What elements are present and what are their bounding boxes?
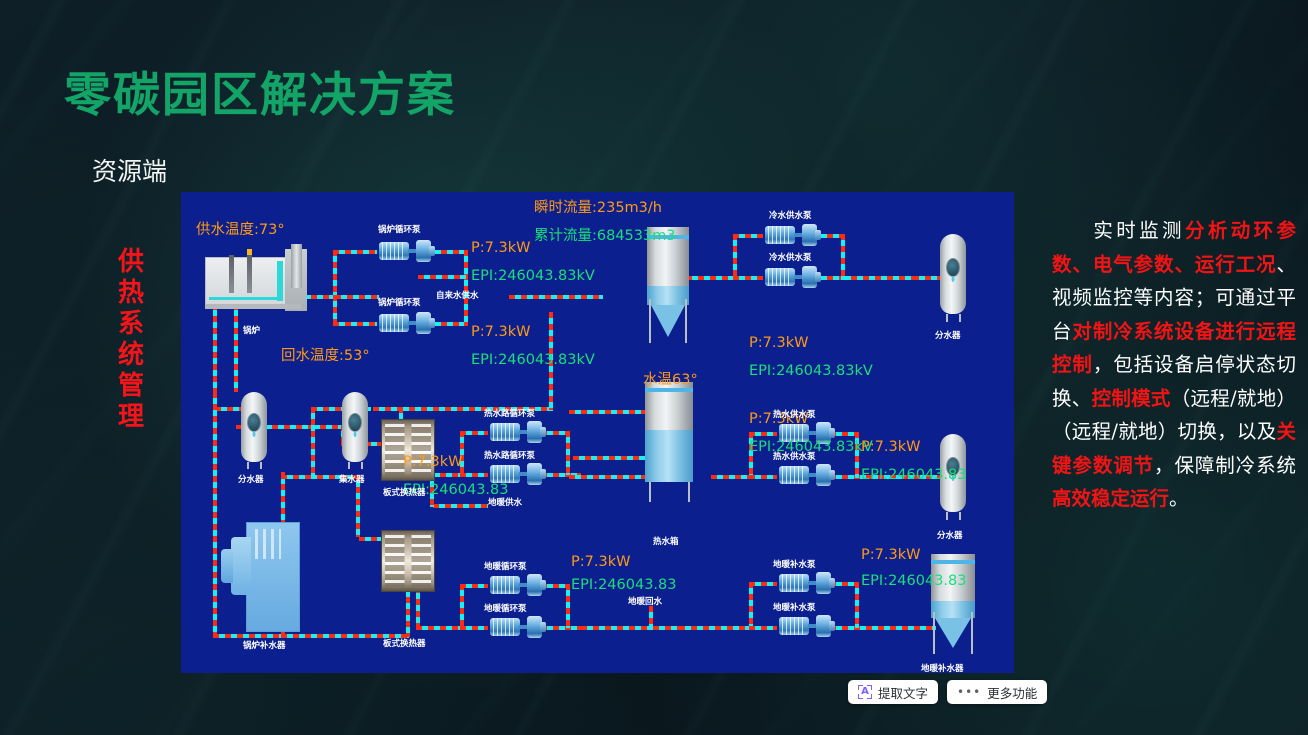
makeup-tank-cap-2: [221, 549, 233, 583]
pump-floor-makeup-2[interactable]: [777, 615, 835, 637]
pump12-nose: [829, 621, 835, 631]
pump5-fins: [493, 423, 517, 441]
vlabel-char-5: 管: [113, 371, 149, 402]
label-return-temp: 回水温度:53°: [281, 344, 370, 365]
more-dots-icon: •••: [957, 685, 981, 699]
pump1-fins: [382, 242, 406, 260]
pipe-boiler-drop-a: [213, 304, 217, 392]
extract-text-label: 提取文字: [878, 683, 928, 702]
label-total-flow: 累计流量:684533m3: [534, 224, 676, 245]
pump10-nose: [829, 470, 835, 480]
pump5-nose: [540, 427, 546, 437]
label-floor-makeup-pump-2: 地暖补水泵: [773, 601, 816, 613]
power-label-1: P:7.3kW: [471, 240, 530, 256]
pump4-fins: [768, 268, 792, 286]
label-floor-makeup-tank: 地暖补水器: [921, 662, 964, 673]
desc-seg-1: 实时监测: [1090, 219, 1185, 242]
pump3-fins: [768, 226, 792, 244]
separator-right-leg-1: [946, 512, 948, 520]
pump10-fins: [782, 466, 806, 484]
pipe-hotloop-top: [460, 431, 488, 435]
image-toolbar: A 提取文字 ••• 更多功能: [848, 680, 1047, 704]
page-subtitle: 资源端: [92, 152, 167, 188]
label-supply-temp: 供水温度:73°: [196, 218, 285, 239]
power-label-3: P:7.3kW: [749, 335, 808, 351]
pipe-floor-supply: [433, 504, 488, 508]
epi-label-3: EPI:246043.83kV: [749, 363, 873, 379]
pipe-hotsupply-bottom: [749, 475, 777, 479]
label-water-temp: 水温63°: [643, 368, 698, 389]
section-vertical-label: 供 热 系 统 管 理: [113, 247, 149, 433]
pump-hot-supply-2[interactable]: [777, 464, 835, 486]
label-boiler-pump-1: 锅炉循环泵: [378, 223, 421, 235]
separator-left-leg-1: [247, 462, 249, 469]
extract-text-icon: A: [858, 685, 872, 699]
separator-top-vessel[interactable]: [940, 234, 966, 314]
extract-text-button[interactable]: A 提取文字: [848, 680, 938, 704]
pipe-bottom-left: [213, 634, 283, 638]
pump12-fins: [782, 617, 806, 635]
separator-left-leg-2: [260, 462, 262, 469]
pump1-nose: [429, 246, 435, 256]
pipe-hotwater-bottom: [569, 475, 649, 479]
collector-leg-2: [361, 462, 363, 469]
collector-leg-1: [348, 462, 350, 469]
separator-top-gauge: [946, 258, 960, 277]
label-hot-supply-pump-1: 热水供水泵: [773, 408, 816, 420]
vlabel-char-6: 理: [113, 402, 149, 433]
label-tap-water-supply: 自来水供水: [436, 289, 479, 301]
pipe-floormakeup-collect: [855, 582, 859, 628]
separator-left-drip: [253, 431, 256, 437]
pump2-fins: [382, 314, 406, 332]
pump-floor-circ-1[interactable]: [488, 574, 546, 596]
label-cold-pump-2: 冷水供水泵: [769, 251, 812, 263]
pump9-nose: [829, 428, 835, 438]
cold-tank-leg-2: [685, 299, 687, 343]
boiler-probe-tip: [247, 249, 252, 255]
label-floor-pump-1: 地暖循环泵: [484, 560, 527, 572]
label-instant-flow: 瞬时流量:235m3/h: [534, 196, 662, 217]
label-cold-pump-1: 冷水供水泵: [769, 209, 812, 221]
boiler-sight-glass: [277, 261, 283, 301]
more-features-label: 更多功能: [987, 683, 1037, 702]
pipe-coldloop-top: [733, 234, 763, 238]
description-paragraph: 实时监测分析动环参数、电气参数、运行工况、视频监控等内容；可通过平台对制冷系统设…: [1052, 214, 1296, 516]
separator-right-leg-2: [959, 512, 961, 520]
pump3-nose: [815, 230, 821, 240]
makeup-tank-cap: [231, 537, 251, 595]
pipe-tapwater-in: [509, 295, 603, 299]
pipe-boilerloop-top: [333, 250, 377, 254]
label-boiler-pump-2: 锅炉循环泵: [378, 296, 421, 308]
pump-hotline-circ-1[interactable]: [488, 421, 546, 443]
power-label-4: P:7.3kW: [403, 454, 462, 470]
epi-label-7: EPI:246043.83: [571, 577, 676, 593]
desc-seg-6: 控制模式: [1092, 387, 1171, 410]
boiler-unit[interactable]: [205, 247, 315, 305]
pump8-fins: [493, 618, 517, 636]
label-floor-makeup-pump-1: 地暖补水泵: [773, 558, 816, 570]
phe2-plates: [385, 535, 431, 588]
pipe-boilerpump-collect: [464, 250, 468, 326]
power-label-2: P:7.3kW: [471, 324, 530, 340]
power-label-7: P:7.3kW: [571, 554, 630, 570]
label-floor-pump-2: 地暖循环泵: [484, 602, 527, 614]
vlabel-char-1: 供: [113, 247, 149, 278]
pipe-boiler-header: [418, 275, 466, 279]
label-hot-supply-pump-2: 热水供水泵: [773, 450, 816, 462]
pump-boiler-circ-2[interactable]: [377, 312, 435, 334]
floor-makeup-ring: [931, 560, 975, 564]
pipe-boilerloop-down: [333, 295, 337, 325]
scada-diagram-panel[interactable]: 供水温度:73° 回水温度:53° 瞬时流量:235m3/h 累计流量:6845…: [181, 192, 1014, 673]
desc-seg-10: 高效稳定运行: [1052, 487, 1169, 510]
floor-makeup-leg-2: [971, 612, 973, 654]
vlabel-char-3: 系: [113, 309, 149, 340]
power-label-8: P:7.3kW: [861, 547, 920, 563]
label-hot-water-tank: 热水箱: [653, 535, 679, 547]
pump-cold-supply-1[interactable]: [763, 224, 821, 246]
separator-top-leg-2: [959, 314, 961, 322]
collector-drip: [354, 431, 357, 437]
pipe-floorloop-collect: [566, 584, 570, 628]
pipe-floor-return-run: [581, 626, 679, 630]
pipe-floorloop-bottom: [460, 626, 488, 630]
desc-seg-11: 。: [1169, 487, 1189, 510]
slide-canvas: 零碳园区解决方案 资源端 供 热 系 统 管 理 实时监测分析动环参数、电气参数…: [0, 0, 1308, 735]
boiler-base-line: [209, 297, 283, 300]
pump-cold-supply-2[interactable]: [763, 266, 821, 288]
floor-makeup-tank[interactable]: [931, 554, 975, 662]
pipe-to-hotwater-tank: [569, 410, 651, 414]
separator-top-leg-1: [946, 314, 948, 322]
plate-heat-exchanger-2[interactable]: [381, 530, 435, 592]
floor-makeup-leg-1: [933, 612, 935, 654]
pump11-fins: [782, 574, 806, 592]
floor-makeup-hopper: [935, 618, 971, 648]
collector-gauge: [348, 413, 362, 432]
pump-boiler-circ-1[interactable]: [377, 240, 435, 262]
pump7-nose: [540, 580, 546, 590]
boiler-base: [205, 304, 301, 309]
hot-tank-leg-1: [649, 482, 651, 502]
pipe-hotloop-bottom: [460, 473, 488, 477]
hot-water-tank[interactable]: [645, 382, 693, 492]
pipe-sep-riser: [311, 407, 315, 477]
label-floor-return: 地暖回水: [628, 595, 662, 607]
epi-label-2: EPI:246043.83kV: [471, 352, 595, 368]
boiler-stack: [291, 244, 302, 288]
epi-label-1: EPI:246043.83kV: [471, 268, 595, 284]
boiler-probe-2: [247, 255, 252, 293]
boiler-probe-1: [229, 255, 234, 293]
pipe-hotwater-tank-mid: [573, 456, 649, 460]
pipe-coldloop-bottom: [733, 276, 763, 280]
pump2-nose: [429, 318, 435, 328]
pipe-boilerloop-bottom: [333, 322, 377, 326]
pump8-nose: [540, 622, 546, 632]
label-plate-hx-1: 板式换热器: [383, 486, 426, 498]
separator-left-gauge: [247, 413, 261, 432]
separator-top-drip: [952, 276, 955, 282]
pipe-floormakeuppump2-out: [818, 626, 936, 630]
pipe-hotsupply-top: [749, 432, 777, 436]
label-hotline-pump-2: 热水路循环泵: [484, 449, 535, 461]
boiler-makeup-tank[interactable]: [246, 522, 300, 632]
pipe-floormakeup-riser: [749, 582, 753, 628]
pipe-hotloop-collect: [566, 431, 570, 475]
label-hotline-pump-1: 热水路循环泵: [484, 407, 535, 419]
pipe-floorloop-top: [460, 584, 488, 588]
pump6-fins: [493, 465, 517, 483]
label-separator-right: 分水器: [937, 529, 963, 541]
cold-tank-leg-1: [649, 299, 651, 343]
pump6-nose: [540, 469, 546, 479]
label-separator-top: 分水器: [935, 329, 961, 341]
pipe-floor-return-riser: [649, 606, 653, 628]
vlabel-char-2: 热: [113, 278, 149, 309]
more-features-button[interactable]: ••• 更多功能: [947, 680, 1047, 704]
label-collector: 集水器: [339, 473, 365, 485]
pump-floor-makeup-1[interactable]: [777, 572, 835, 594]
power-label-6: P:7.3kW: [861, 439, 920, 455]
pipe-coldtank-out: [686, 276, 736, 280]
pump11-nose: [829, 578, 835, 588]
collector-vessel[interactable]: [342, 392, 368, 462]
pipe-floormakeup-top: [749, 582, 777, 586]
pump-floor-circ-2[interactable]: [488, 616, 546, 638]
label-plate-hx-2: 板式换热器: [383, 637, 426, 649]
cold-tank-hopper: [651, 305, 685, 337]
epi-label-6: EPI:246043.83: [861, 467, 966, 483]
makeup-tank-vents: [255, 529, 281, 559]
pipe-coldloop-riser: [733, 234, 737, 280]
vlabel-char-4: 统: [113, 340, 149, 371]
pipe-boilerloop-riser: [333, 250, 337, 298]
pipe-floormakeup-in: [679, 626, 753, 630]
pump4-nose: [815, 272, 821, 282]
pump7-fins: [493, 576, 517, 594]
label-floor-supply: 地暖供水: [488, 496, 522, 508]
cold-tank-water: [647, 286, 689, 305]
pipe-hotwater-out: [711, 475, 753, 479]
epi-label-8: EPI:246043.83: [861, 573, 966, 589]
label-separator-left: 分水器: [238, 473, 264, 485]
pipe-phe2-out-down: [416, 587, 420, 629]
label-boiler-makeup-tank: 锅炉补水器: [243, 639, 286, 651]
label-boiler: 锅炉: [243, 324, 260, 336]
separator-left-vessel[interactable]: [241, 392, 267, 462]
plate-heat-exchanger-1[interactable]: [381, 419, 435, 481]
page-title: 零碳园区解决方案: [64, 72, 456, 119]
pipe-phe2-out-right: [416, 626, 464, 630]
floor-makeup-water: [931, 601, 975, 618]
pipe-left-main-down: [213, 392, 217, 637]
pipe-floorloop-riser: [460, 584, 464, 628]
hot-tank-water: [645, 430, 693, 482]
pipe-boiler-drop-b: [234, 304, 238, 392]
pipe-coldloop-collect: [841, 234, 845, 280]
hot-tank-leg-2: [688, 482, 690, 502]
hot-tank-shell-wrap: [645, 382, 693, 482]
pipe-floormakeup-bottom: [749, 626, 777, 630]
desc-seg-9: ，保障制冷系统: [1154, 454, 1296, 477]
